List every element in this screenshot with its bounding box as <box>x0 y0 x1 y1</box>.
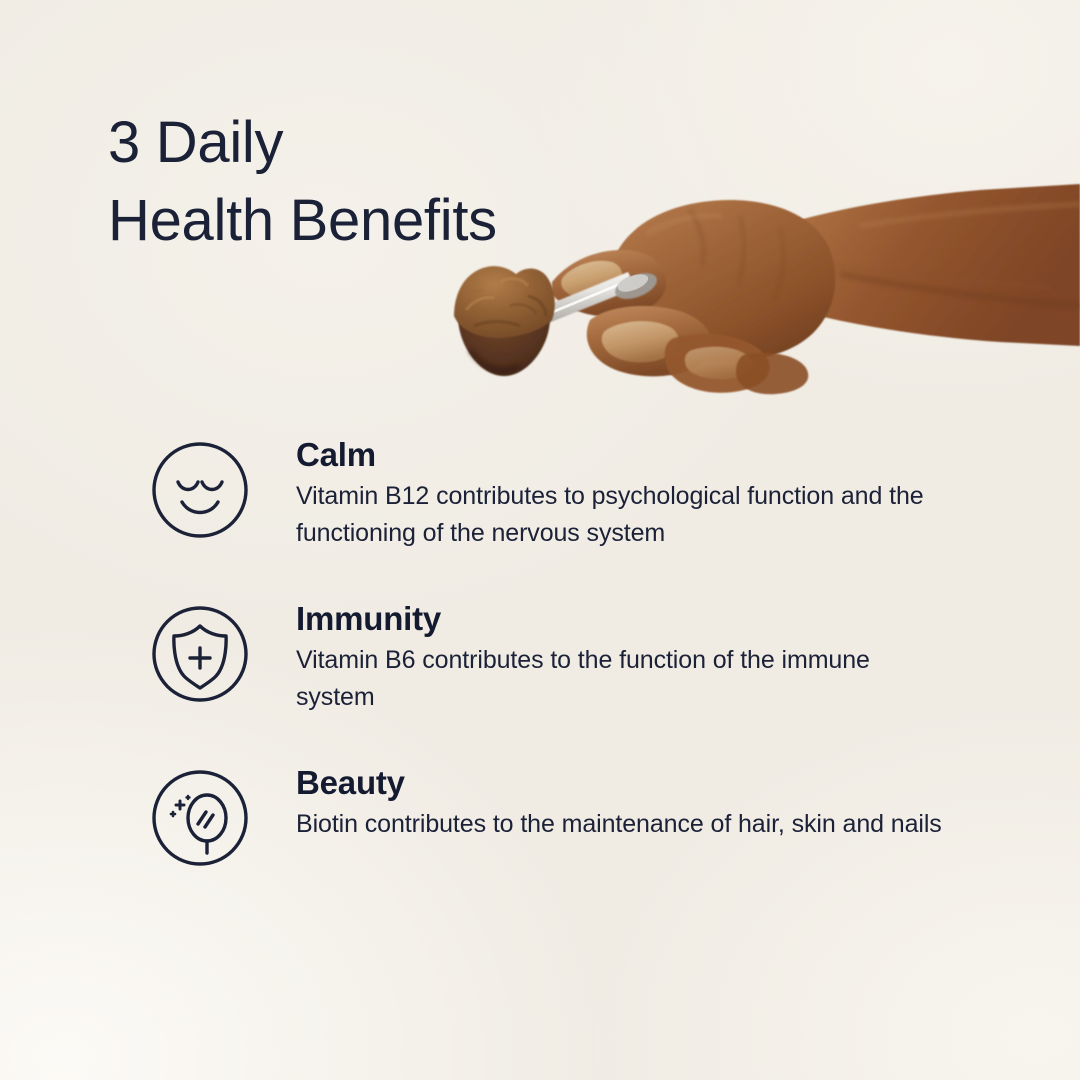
shield-plus-icon <box>150 604 250 704</box>
benefit-item-immunity: Immunity Vitamin B6 contributes to the f… <box>0 588 1080 752</box>
benefit-copy: Immunity Vitamin B6 contributes to the f… <box>296 598 944 716</box>
benefits-list: Calm Vitamin B12 contributes to psycholo… <box>0 424 1080 916</box>
promo-card: 3 Daily Health Benefits <box>0 0 1080 1080</box>
benefit-title: Calm <box>296 434 944 476</box>
benefit-copy: Calm Vitamin B12 contributes to psycholo… <box>296 434 944 552</box>
benefit-description: Biotin contributes to the maintenance of… <box>296 806 944 843</box>
benefit-item-calm: Calm Vitamin B12 contributes to psycholo… <box>0 424 1080 588</box>
benefit-title: Beauty <box>296 762 944 804</box>
benefit-copy: Beauty Biotin contributes to the mainten… <box>296 762 944 843</box>
benefit-description: Vitamin B12 contributes to psychological… <box>296 478 944 552</box>
hand-mirror-sparkle-icon <box>150 768 250 868</box>
benefit-description: Vitamin B6 contributes to the function o… <box>296 642 944 716</box>
benefit-title: Immunity <box>296 598 944 640</box>
hand-holding-scoop-photo <box>440 170 1080 410</box>
benefit-item-beauty: Beauty Biotin contributes to the mainten… <box>0 752 1080 916</box>
page-title: 3 Daily Health Benefits <box>108 104 497 260</box>
calm-face-icon <box>150 440 250 540</box>
